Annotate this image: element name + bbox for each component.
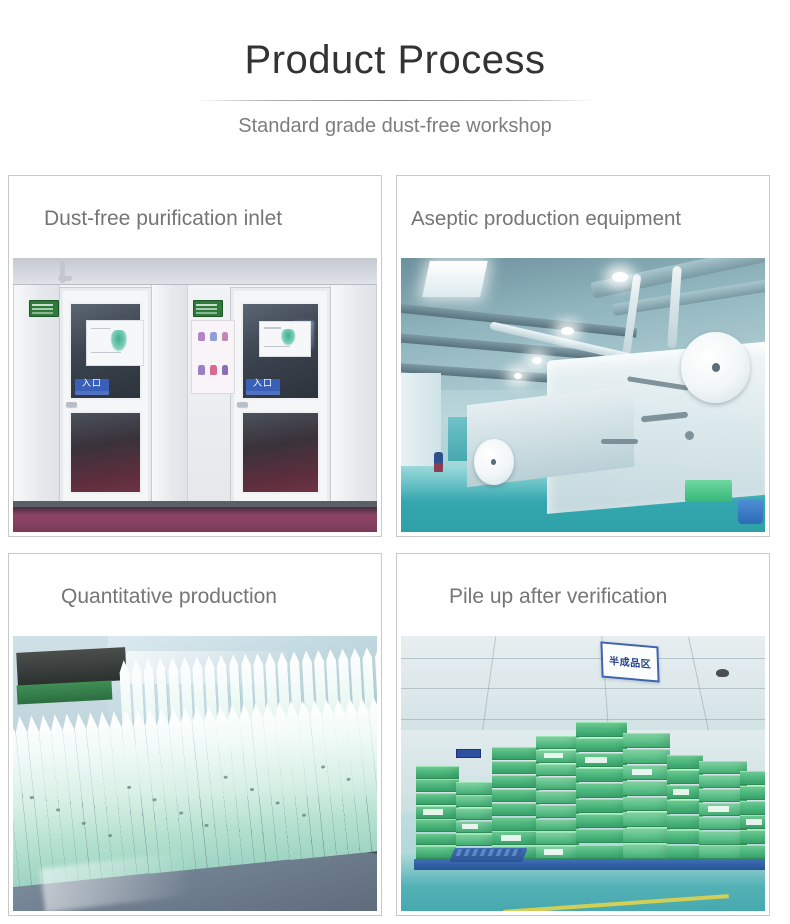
ceiling-lamp [612,272,628,282]
plastic-crate [576,738,627,752]
plastic-crate [667,830,703,844]
crate-stack [740,771,765,859]
card-title: Quantitative production [13,558,377,636]
plastic-crate [492,803,539,816]
machine-green-part [16,680,112,704]
plastic-crate [740,771,765,785]
plastic-crate [492,775,539,788]
plastic-crate [536,777,580,790]
ceiling-lamp [561,327,574,335]
ceiling-grid-line [401,658,765,659]
material-roll [474,439,514,486]
emergency-exit-sign-icon [29,300,59,317]
cleanroom-air-shower-entrance-photo: 入口 入口 [13,258,377,532]
ceiling-fixture [58,276,72,281]
fan-folded-product-conveyor-photo [13,636,377,911]
plastic-crate [456,821,492,833]
process-card-aseptic-production-equipment[interactable]: Aseptic production equipment [396,175,770,537]
crate-label [501,835,522,841]
smoke-detector-icon [716,669,729,677]
wall-panel [151,285,187,510]
plastic-crate [456,834,492,846]
plastic-crate [576,753,627,767]
plastic-crate [576,722,627,736]
crate-label [585,757,607,763]
plastic-crate [740,845,765,859]
plastic-crate [536,791,580,804]
plastic-crate [416,819,460,832]
wall-label-sign [456,749,481,758]
crate-label [423,809,442,814]
title-divider [195,100,595,101]
worker [434,452,443,472]
process-card-quantitative-production[interactable]: Quantitative production [8,553,382,916]
crate-label [544,753,563,758]
plastic-crate [492,747,539,760]
instruction-poster [86,320,144,367]
plastic-crate [667,755,703,769]
plastic-crate [740,786,765,800]
entry-sign: 入口 [246,379,280,395]
plastic-crate [456,782,492,794]
crate-stack [536,735,580,859]
plastic-crate [536,750,580,763]
plastic-crate [416,766,460,779]
process-card-dust-free-purification-inlet[interactable]: Dust-free purification inlet [8,175,382,537]
blue-pallet [738,859,765,870]
plastic-crate [667,845,703,859]
ceiling [13,258,377,285]
process-card-grid: Dust-free purification inlet [8,175,782,916]
page-header: Product Process Standard grade dust-free… [0,0,790,138]
plastic-crate [576,799,627,813]
crate-stack [416,765,460,859]
crate-label [462,824,478,829]
plastic-crate [576,783,627,797]
plastic-crate [623,828,670,843]
plastic-crate [536,819,580,832]
plastic-crate [576,829,627,843]
door-glass-lower [69,411,142,494]
plastic-crate [576,768,627,782]
plastic-crate [536,736,580,749]
entrance-floor-mat [13,507,377,532]
ceiling-grid-line [401,688,765,689]
crate-stack [623,732,670,859]
card-title: Aseptic production equipment [401,180,765,258]
plastic-crate [416,833,460,846]
plastic-crate [740,801,765,815]
plastic-crate [667,800,703,814]
plastic-crate [536,832,580,845]
crate-stack [667,754,703,859]
blue-bin [738,499,763,524]
emergency-exit-sign-icon [193,300,223,317]
plastic-crate [740,830,765,844]
plastic-crate [667,815,703,829]
blue-pallet [622,859,672,870]
plastic-crate [667,770,703,784]
plastic-crate [623,781,670,796]
plastic-crate [623,812,670,827]
plastic-crate [536,764,580,777]
plastic-crate [456,808,492,820]
crate-label [544,849,563,854]
plastic-crate [492,817,539,830]
empty-pallet [449,848,527,862]
entry-sign: 入口 [75,379,109,395]
plastic-crate [623,765,670,780]
plastic-crate [416,779,460,792]
plastic-crate [623,844,670,859]
ceiling-grid-line [401,719,765,720]
plastic-crate [456,795,492,807]
warehouse-green-crates-photo: 半成品区 [401,636,765,911]
door-glass-lower [241,411,320,494]
wall-panel [13,285,60,510]
card-title: Dust-free purification inlet [13,180,377,258]
plastic-crate [536,846,580,859]
side-door [448,417,466,461]
crate-label [708,806,729,812]
plastic-crate [492,831,539,844]
plastic-crate [492,761,539,774]
plastic-crate [623,797,670,812]
crate-stack [492,746,539,859]
crate-stack [576,721,627,859]
plastic-crate [416,806,460,819]
plastic-crate [623,749,670,764]
card-title: Pile up after verification [401,558,765,636]
plastic-crate [576,845,627,859]
aseptic-production-line-photo [401,258,765,532]
plastic-crate [492,789,539,802]
page-subtitle: Standard grade dust-free workshop [0,115,790,138]
plastic-crate [667,785,703,799]
semi-finished-area-sign: 半成品区 [601,642,660,683]
plastic-crate [416,793,460,806]
machine-wheel [685,431,694,440]
machine-shaft [601,439,637,444]
process-card-pile-up-after-verification[interactable]: Pile up after verification 半成品区 [396,553,770,916]
product-process-page: Product Process Standard grade dust-free… [0,0,790,924]
door-handle [237,402,248,407]
skylight-panel [423,261,489,297]
procedure-poster [191,320,235,394]
crate-label [673,789,689,795]
plastic-crate [536,805,580,818]
crate-label [746,819,762,825]
plastic-crate [576,814,627,828]
plastic-crate [740,815,765,829]
wall-panel [330,285,377,510]
page-title: Product Process [0,38,790,82]
door-handle [66,402,77,407]
wall-skirting [13,501,377,508]
blue-pallet [574,859,628,870]
ceiling-lamp [514,373,522,379]
green-bin [685,480,732,502]
crate-label [632,769,653,775]
instruction-poster [259,321,312,357]
plastic-crate [623,733,670,748]
ceiling-lamp [532,357,542,364]
